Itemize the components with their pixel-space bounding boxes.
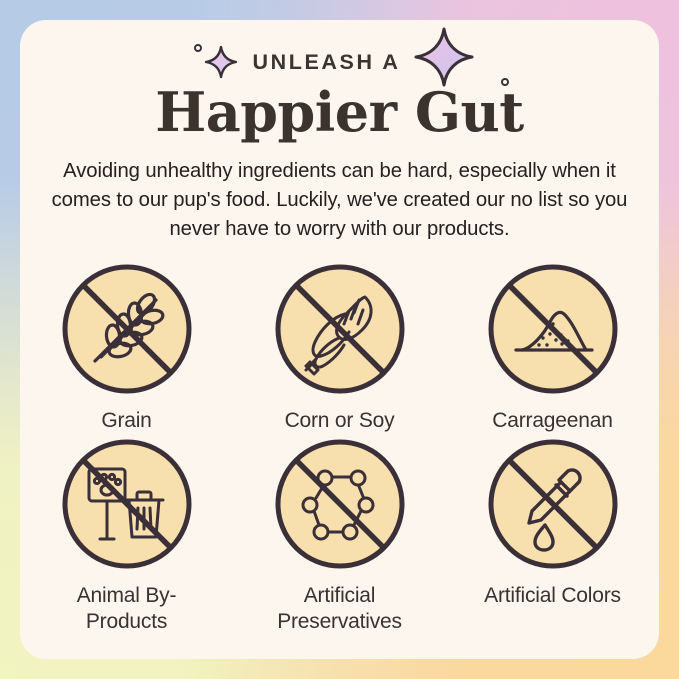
no-list-item: Corn or Soy bbox=[233, 262, 446, 434]
no-animal-byproducts-icon bbox=[60, 437, 194, 571]
dot-outline-icon bbox=[501, 78, 509, 86]
no-list-item: Carrageenan bbox=[446, 262, 659, 434]
no-corn-icon bbox=[273, 262, 407, 396]
no-list-grid: Grain Corn or Soy bbox=[20, 262, 659, 635]
no-carrageenan-icon bbox=[486, 262, 620, 396]
no-list-item-label: Animal By- Products bbox=[77, 583, 177, 634]
body-copy: Avoiding unhealthy ingredients can be ha… bbox=[41, 157, 639, 243]
no-list-item: Artificial Colors bbox=[446, 437, 659, 634]
page-title: Happier Gut bbox=[20, 84, 659, 141]
no-list-item-label: Corn or Soy bbox=[285, 408, 395, 434]
no-list-item-label: Artificial Colors bbox=[484, 583, 621, 609]
no-list-item: Grain bbox=[20, 262, 233, 434]
no-list-item: Artificial Preservatives bbox=[233, 437, 446, 634]
no-list-item-label: Carrageenan bbox=[492, 408, 612, 434]
no-list-item: Animal By- Products bbox=[20, 437, 233, 634]
no-artificial-preservatives-icon bbox=[273, 437, 407, 571]
no-artificial-colors-icon bbox=[486, 437, 620, 571]
no-grain-icon bbox=[60, 262, 194, 396]
sparkle-large-icon bbox=[413, 26, 475, 88]
eyebrow-text: UNLEASH A bbox=[252, 50, 400, 75]
no-list-item-label: Grain bbox=[101, 408, 151, 434]
promo-card: UNLEASH A Happier Gut Avoiding unhealthy… bbox=[20, 20, 659, 659]
header: UNLEASH A Happier Gut Avoiding unhealthy… bbox=[20, 20, 659, 244]
sparkle-small-icon bbox=[204, 45, 238, 79]
dot-outline-icon bbox=[194, 44, 202, 52]
no-list-item-label: Artificial Preservatives bbox=[277, 583, 402, 634]
eyebrow-row: UNLEASH A bbox=[20, 38, 659, 86]
